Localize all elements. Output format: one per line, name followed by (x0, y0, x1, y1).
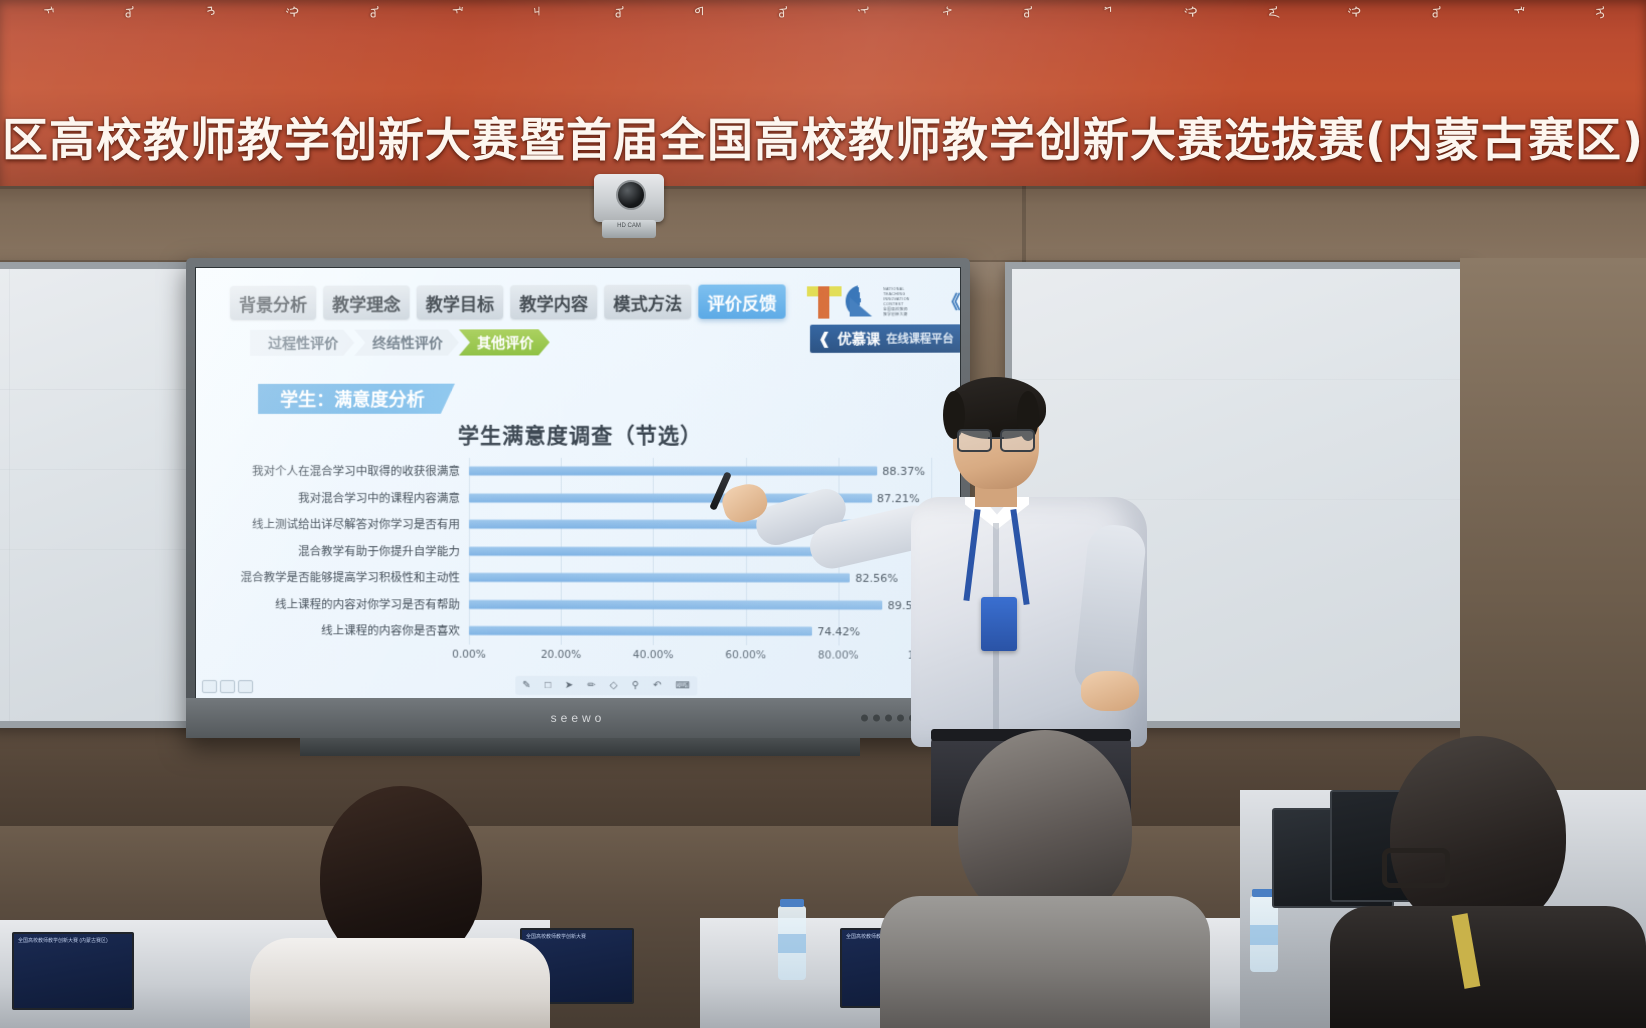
chart-category-label: 线上课程的内容你是否喜欢 (224, 622, 469, 639)
mongolian-glyph-12: ᠤ (1021, 6, 1034, 82)
chart-value-label: 74.42% (817, 625, 860, 638)
platform-subtitle: 在线课程平台 (886, 330, 953, 346)
chart-row: 线上课程的内容对你学习是否有帮助89.53% (224, 591, 931, 619)
logo-line-4: CONTEST (883, 302, 909, 306)
screen-control-1-icon[interactable] (202, 680, 217, 693)
audience-member-right (1330, 736, 1646, 1028)
nav-tab-objectives[interactable]: 教学目标 (417, 285, 504, 319)
course-title: 《流体力学》 (942, 288, 960, 315)
chart-bar (469, 467, 877, 476)
lecture-hall-screenshot: ᠮᠣᠩᠭᠣᠯᠴᠤᠳᠤᠨᠰᠤᠷᠭᠠᠭᠤᠯᠢ 区高校教师教学创新大赛暨首届全国高校教… (0, 0, 1646, 1028)
presenter-eyeglasses-icon (957, 429, 1035, 449)
chart-bar-track: 82.56% (469, 564, 931, 591)
chart-category-label: 线上课程的内容对你学习是否有帮助 (224, 596, 469, 612)
nav-tab-background[interactable]: 背景分析 (230, 286, 316, 320)
chart-bar-track: 89.53% (469, 591, 931, 618)
chart-category-label: 我对混合学习中的课程内容满意 (224, 490, 469, 506)
display-bottom-bezel: seewo (186, 698, 970, 738)
presentation-screen[interactable]: 背景分析 教学理念 教学目标 教学内容 模式方法 评价反馈 NATIONAL T… (196, 268, 960, 698)
mongolian-glyph-9: ᠤ (776, 6, 789, 82)
platform-mark-icon: ❰ (818, 329, 832, 349)
whiteboard-left (0, 262, 202, 728)
undo-icon[interactable]: ↶ (653, 680, 661, 691)
chart-bar (469, 546, 866, 555)
logo-text-lines: NATIONAL TEACHING INNOVATION CONTEST 全国高… (883, 287, 909, 316)
presenter-id-badge (981, 597, 1017, 651)
chart-title: 学生满意度调查（节选） (196, 419, 960, 450)
display-stand (300, 738, 860, 756)
mongolian-glyph-19: ᠢ (1592, 6, 1605, 82)
logo-line-3: INNOVATION (883, 297, 909, 301)
audience-member-center (880, 730, 1210, 1028)
subnav-other-evaluation[interactable]: 其他评价 (459, 329, 550, 355)
chart-row: 混合教学是否能够提高学习积极性和主动性82.56% (224, 564, 931, 592)
contest-logo: NATIONAL TEACHING INNOVATION CONTEST 全国高… (807, 284, 910, 319)
chart-bar (469, 600, 883, 610)
nav-tab-methods[interactable]: 模式方法 (604, 285, 691, 319)
chart-x-tick-label: 80.00% (818, 649, 859, 661)
logo-cn-line-2: 教学创新大赛 (883, 312, 909, 316)
chart-x-tick-label: 60.00% (725, 649, 766, 661)
mongolian-glyph-3: ᠭ (285, 6, 298, 82)
mongolian-glyph-11: ᠰ (939, 6, 952, 82)
desk-monitor-left-text: 全国高校教师教学创新大赛 (内蒙古赛区) (18, 938, 128, 944)
audience-left-shoulders (250, 938, 550, 1028)
audience-right-head (1390, 736, 1566, 934)
audience-member-left (250, 786, 550, 1028)
eraser-icon[interactable]: □ (545, 680, 551, 691)
camera-label: HD CAM (594, 223, 664, 229)
chart-row: 我对个人在混合学习中取得的收获很满意88.37% (224, 458, 931, 485)
chart-bar-track: 87.21% (469, 485, 931, 512)
screen-control-2-icon[interactable] (220, 680, 235, 693)
mongolian-glyph-8: ᠳ (694, 6, 707, 82)
mongolian-glyph-6: ᠴ (530, 6, 543, 82)
platform-name: 优慕课 (837, 329, 880, 349)
mongolian-glyph-4: ᠣ (367, 6, 380, 82)
mongolian-glyph-13: ᠷ (1102, 6, 1115, 82)
shapes-icon[interactable]: ◇ (610, 680, 618, 691)
slide-sub-nav: 过程性评价 终结性评价 其他评价 (250, 329, 550, 356)
logo-line-1: NATIONAL (883, 287, 909, 291)
presenter-hand-right (1081, 671, 1139, 711)
chart-x-tick-label: 40.00% (633, 649, 674, 661)
chart-x-tick-label: 0.00% (452, 649, 486, 661)
cursor-icon[interactable]: ➤ (565, 680, 573, 691)
mongolian-glyph-10: ᠨ (857, 6, 870, 82)
chart-category-label: 混合教学有助于你提升自学能力 (224, 543, 469, 559)
mongolian-glyph-14: ᠭ (1184, 6, 1197, 82)
section-banner: 学生：满意度分析 (258, 384, 455, 414)
highlighter-icon[interactable]: ✏ (587, 680, 595, 691)
chart-category-label: 我对个人在混合学习中取得的收获很满意 (224, 463, 469, 479)
screen-side-controls[interactable] (202, 680, 253, 693)
chart-bar-track: 88.37% (469, 458, 931, 485)
mongolian-glyph-17: ᠤ (1429, 6, 1442, 82)
mongolian-glyph-16: ᠭ (1347, 6, 1360, 82)
mongolian-script-row: ᠮᠣᠩᠭᠣᠯᠴᠤᠳᠤᠨᠰᠤᠷᠭᠠᠭᠤᠯᠢ (0, 6, 1646, 94)
whiteboard-left-markings (0, 269, 195, 721)
chart-x-tick-label: 20.00% (541, 649, 581, 661)
chart-bar (469, 573, 850, 583)
display-brand: seewo (551, 711, 606, 725)
water-bottle-center (778, 906, 806, 980)
screen-control-3-icon[interactable] (238, 680, 253, 693)
banner-title: 区高校教师教学创新大赛暨首届全国高校教师教学创新大赛选拔赛(内蒙古赛区) (0, 104, 1646, 170)
annotation-toolbar[interactable]: ✎ □ ➤ ✏ ◇ ⚲ ↶ ⌨ (515, 676, 697, 696)
keyboard-icon[interactable]: ⌨ (676, 680, 691, 691)
chart-value-label: 82.56% (855, 572, 898, 585)
mongolian-glyph-18: ᠯ (1511, 6, 1524, 82)
subnav-summative-evaluation[interactable]: 终结性评价 (354, 329, 459, 355)
event-banner: ᠮᠣᠩᠭᠣᠯᠴᠤᠳᠤᠨᠰᠤᠷᠭᠠᠭᠤᠯᠢ 区高校教师教学创新大赛暨首届全国高校教… (0, 0, 1646, 196)
chart-x-axis: 0.00%20.00%40.00%60.00%80.00%100.00% (469, 649, 931, 666)
desk-monitor-left: 全国高校教师教学创新大赛 (内蒙古赛区) (12, 932, 134, 1010)
audience-right-shoulders (1330, 906, 1646, 1028)
mongolian-glyph-2: ᠩ (204, 6, 217, 82)
nav-tab-philosophy[interactable]: 教学理念 (323, 285, 409, 319)
chart-row: 线上课程的内容你是否喜欢74.42% (224, 617, 931, 645)
mongolian-glyph-1: ᠣ (122, 6, 135, 82)
camera-lens-icon (616, 180, 646, 210)
mongolian-glyph-5: ᠯ (449, 6, 462, 82)
chart-category-label: 混合教学是否能够提高学习积极性和主动性 (224, 569, 469, 585)
slide-nav-tabs: 背景分析 教学理念 教学目标 教学内容 模式方法 评价反馈 NATIONAL T… (230, 282, 958, 322)
chart-bar-track: 74.42% (469, 618, 931, 646)
mongolian-glyph-0: ᠮ (40, 6, 53, 82)
logo-line-2: TEACHING (883, 292, 909, 296)
ceiling-camera: HD CAM (594, 168, 664, 240)
mongolian-glyph-7: ᠤ (612, 6, 625, 82)
nav-tab-evaluation[interactable]: 评价反馈 (698, 284, 785, 318)
zoom-icon[interactable]: ⚲ (632, 680, 639, 691)
logo-letter-k-icon (846, 284, 877, 318)
platform-badge: ❰ 优慕课 在线课程平台 (810, 324, 960, 353)
logo-letter-t-icon (807, 284, 842, 318)
chart-bar (469, 626, 812, 636)
nav-tab-contents[interactable]: 教学内容 (510, 285, 597, 319)
mongolian-glyph-15: ᠠ (1266, 6, 1279, 82)
subnav-process-evaluation[interactable]: 过程性评价 (250, 330, 354, 356)
pen-icon[interactable]: ✎ (522, 680, 530, 691)
chart-category-label: 线上测试给出详尽解答对你学习是否有用 (224, 516, 469, 532)
audience-center-shoulders (880, 896, 1210, 1028)
logo-cn-line-1: 全国高校教师 (883, 307, 909, 311)
slide-content: 背景分析 教学理念 教学目标 教学内容 模式方法 评价反馈 NATIONAL T… (196, 268, 960, 698)
audience-right-glasses-icon (1382, 848, 1450, 888)
